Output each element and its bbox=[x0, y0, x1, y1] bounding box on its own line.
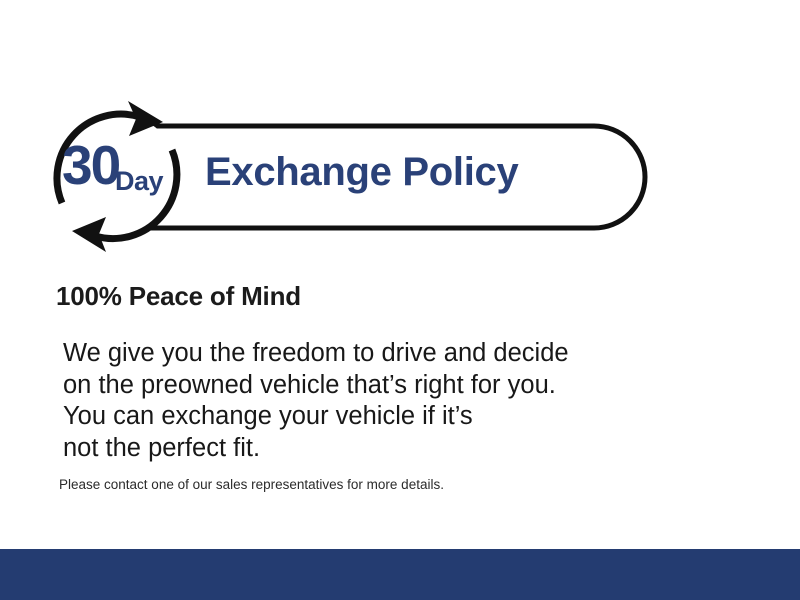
paragraph-line: not the perfect fit. bbox=[63, 433, 569, 465]
duration-unit: Day bbox=[115, 168, 163, 195]
duration-number: 30 bbox=[62, 138, 119, 193]
page-title: Exchange Policy bbox=[205, 152, 518, 192]
exchange-policy-slide: 30 Day Exchange Policy 100% Peace of Min… bbox=[0, 0, 800, 600]
paragraph-line: on the preowned vehicle that’s right for… bbox=[63, 370, 569, 402]
footer-bar bbox=[0, 549, 800, 600]
headline: 100% Peace of Mind bbox=[56, 283, 301, 309]
body-paragraph: We give you the freedom to drive and dec… bbox=[63, 338, 569, 464]
fineprint-note: Please contact one of our sales represen… bbox=[59, 478, 444, 492]
paragraph-line: We give you the freedom to drive and dec… bbox=[63, 338, 569, 370]
duration-label: 30 Day bbox=[53, 112, 183, 240]
policy-badge: 30 Day Exchange Policy bbox=[0, 0, 800, 270]
paragraph-line: You can exchange your vehicle if it’s bbox=[63, 401, 569, 433]
